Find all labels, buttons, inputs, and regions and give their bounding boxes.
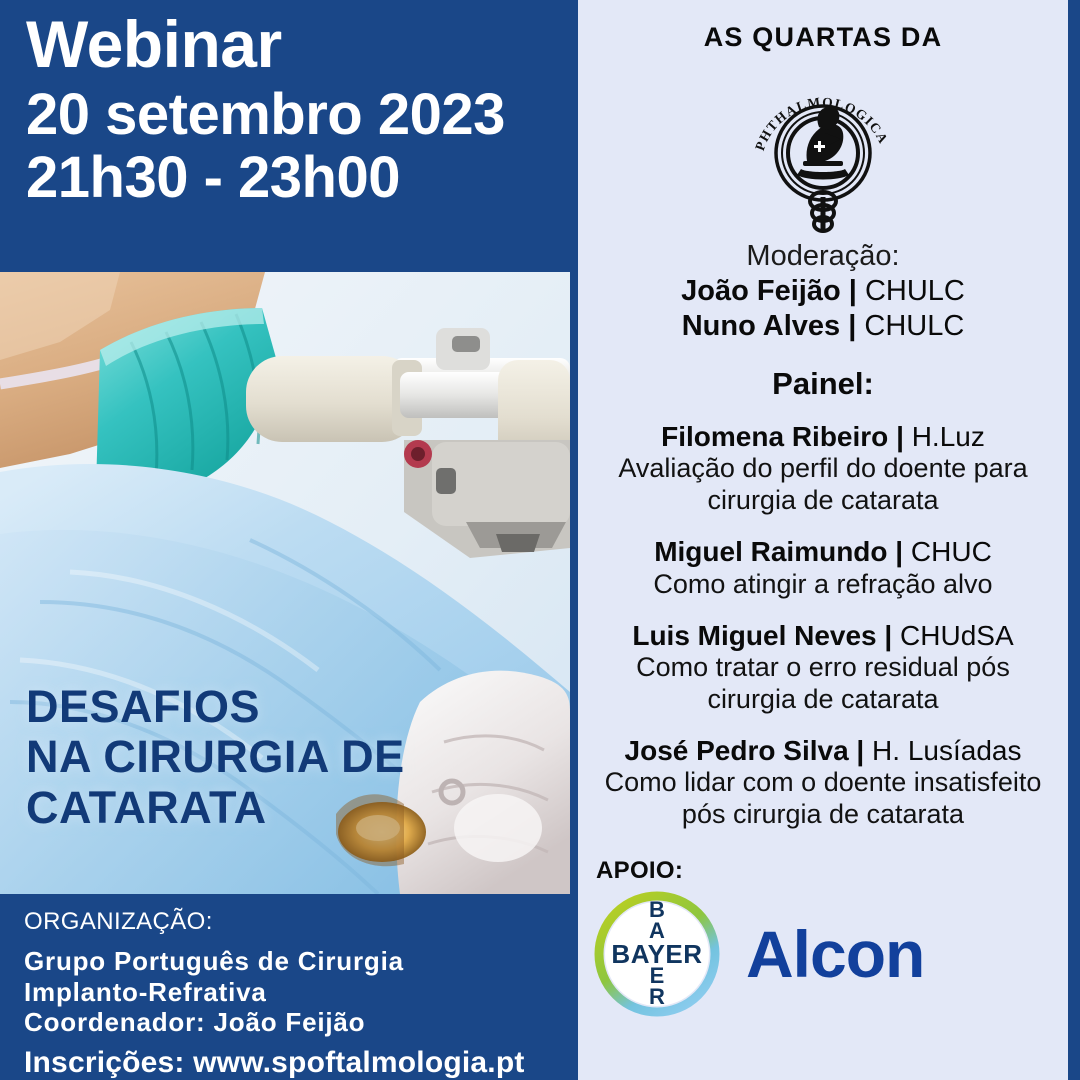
moderator-1-separator: | xyxy=(841,275,865,307)
panel-label: Painel: xyxy=(592,366,1054,402)
support-label: APOIO: xyxy=(596,857,1054,885)
societas-ophthalmologica-lusitanica-seal-icon: SOCIETAS OPHTHALMOLOGICA LUSITANICA xyxy=(745,57,901,233)
panel-speaker-2-topic: Como atingir a refração alvo xyxy=(592,569,1054,601)
panel-speaker-2: Miguel Raimundo | CHUC Como atingir a re… xyxy=(592,535,1054,600)
webinar-date: 20 setembro 2023 xyxy=(26,84,578,145)
series-title: AS QUARTAS DA xyxy=(592,22,1054,53)
panel-speaker-4-affiliation: H. Lusíadas xyxy=(872,735,1021,766)
seal-wrap: SOCIETAS OPHTHALMOLOGICA LUSITANICA xyxy=(592,57,1054,233)
webinar-poster: Webinar 20 setembro 2023 21h30 - 23h00 xyxy=(0,0,1080,1080)
sponsor-logos: BAYER B A E R Alcon xyxy=(594,891,1054,1017)
panel-speaker-4: José Pedro Silva | H. Lusíadas Como lida… xyxy=(592,734,1054,831)
organization-line-1: Grupo Português de Cirurgia xyxy=(24,946,578,977)
panel-speaker-4-separator: | xyxy=(849,735,872,766)
alcon-logo: Alcon xyxy=(746,921,924,987)
moderator-2-separator: | xyxy=(840,310,864,342)
panel-speaker-4-line: José Pedro Silva | H. Lusíadas xyxy=(592,734,1054,768)
bayer-logo-icon: BAYER B A E R xyxy=(594,891,720,1017)
panel-speaker-1: Filomena Ribeiro | H.Luz Avaliação do pe… xyxy=(592,420,1054,517)
webinar-time: 21h30 - 23h00 xyxy=(26,147,578,208)
poster-main-title-line-2: NA CIRURGIA DE xyxy=(26,732,526,782)
registration-url[interactable]: Inscrições: www.spoftalmologia.pt xyxy=(24,1046,578,1080)
moderation-label: Moderação: xyxy=(592,239,1054,273)
svg-text:A: A xyxy=(649,918,665,943)
moderator-1-affiliation: CHULC xyxy=(865,275,965,307)
right-column: AS QUARTAS DA SOCIETAS OPHTHALMOLOGICA L… xyxy=(578,0,1080,1080)
right-panel-content: AS QUARTAS DA SOCIETAS OPHTHALMOLOGICA L… xyxy=(578,0,1068,1080)
right-edge-stripe xyxy=(1068,0,1080,1080)
panel-speaker-4-name: José Pedro Silva xyxy=(625,735,849,766)
panel-speaker-3-topic: Como tratar o erro residual pós cirurgia… xyxy=(592,652,1054,716)
header-block: Webinar 20 setembro 2023 21h30 - 23h00 xyxy=(0,0,578,272)
moderator-2-name: Nuno Alves xyxy=(682,310,840,342)
moderator-1-name: João Feijão xyxy=(681,275,841,307)
panel-speaker-1-topic: Avaliação do perfil do doente para cirur… xyxy=(592,453,1054,517)
moderator-1: João Feijão | CHULC xyxy=(592,274,1054,309)
panel-speaker-1-line: Filomena Ribeiro | H.Luz xyxy=(592,420,1054,454)
left-column: Webinar 20 setembro 2023 21h30 - 23h00 xyxy=(0,0,578,1080)
poster-main-title-line-1: DESAFIOS xyxy=(26,682,526,732)
svg-text:R: R xyxy=(649,984,665,1009)
panel-speaker-3-separator: | xyxy=(877,620,900,651)
panel-speaker-2-separator: | xyxy=(888,536,911,567)
panel-speaker-1-separator: | xyxy=(888,421,911,452)
moderator-2-affiliation: CHULC xyxy=(864,310,964,342)
panel-speaker-4-topic: Como lidar com o doente insatisfeito pós… xyxy=(592,767,1054,831)
poster-main-title: DESAFIOS NA CIRURGIA DE CATARATA xyxy=(26,682,526,833)
organization-caption: ORGANIZAÇÃO: xyxy=(24,908,578,936)
panel-speaker-3-name: Luis Miguel Neves xyxy=(632,620,876,651)
panel-speaker-2-affiliation: CHUC xyxy=(911,536,992,567)
panel-speaker-3: Luis Miguel Neves | CHUdSA Como tratar o… xyxy=(592,619,1054,716)
organization-line-2: Implanto-Refrativa xyxy=(24,977,578,1008)
organization-block: ORGANIZAÇÃO: Grupo Português de Cirurgia… xyxy=(0,894,578,1080)
panel-speaker-1-name: Filomena Ribeiro xyxy=(661,421,888,452)
moderator-2: Nuno Alves | CHULC xyxy=(592,309,1054,344)
panel-speaker-1-affiliation: H.Luz xyxy=(912,421,985,452)
poster-main-title-line-3: CATARATA xyxy=(26,783,526,833)
panel-speaker-2-line: Miguel Raimundo | CHUC xyxy=(592,535,1054,569)
webinar-label: Webinar xyxy=(26,10,578,80)
panel-speaker-2-name: Miguel Raimundo xyxy=(654,536,887,567)
panel-speaker-3-affiliation: CHUdSA xyxy=(900,620,1014,651)
organization-coordinator: Coordenador: João Feijão xyxy=(24,1007,578,1038)
panel-speaker-3-line: Luis Miguel Neves | CHUdSA xyxy=(592,619,1054,653)
